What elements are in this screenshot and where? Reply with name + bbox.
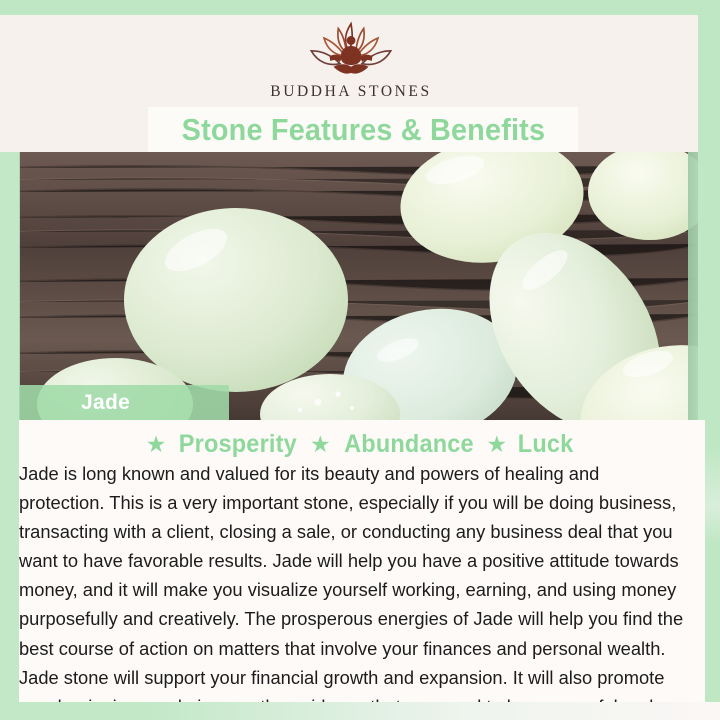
- keyword-row: ★ Prosperity ★ Abundance ★ Luck: [19, 428, 702, 460]
- keyword-abundance: Abundance: [344, 430, 474, 459]
- title-banner: Stone Features & Benefits: [148, 107, 578, 152]
- stone-name-badge: Jade: [19, 385, 229, 420]
- product-info-poster: BUDDHA STONES Stone Features & Benefits: [0, 0, 720, 720]
- star-icon: ★: [487, 433, 508, 456]
- keyword-prosperity: Prosperity: [179, 430, 297, 459]
- star-icon: ★: [310, 433, 331, 456]
- jade-stones-photo: [0, 152, 705, 420]
- star-icon: ★: [146, 433, 167, 456]
- brand-header: BUDDHA STONES: [0, 15, 702, 105]
- bottom-green-accent-fade: [150, 702, 720, 720]
- lotus-meditation-icon: [303, 19, 399, 81]
- keyword-luck: Luck: [518, 430, 574, 459]
- brand-name: BUDDHA STONES: [270, 83, 431, 101]
- left-green-accent: [0, 152, 19, 720]
- stone-description: Jade is long known and valued for its be…: [19, 459, 692, 720]
- page-title: Stone Features & Benefits: [181, 112, 545, 148]
- stone-name-label: Jade: [81, 391, 130, 415]
